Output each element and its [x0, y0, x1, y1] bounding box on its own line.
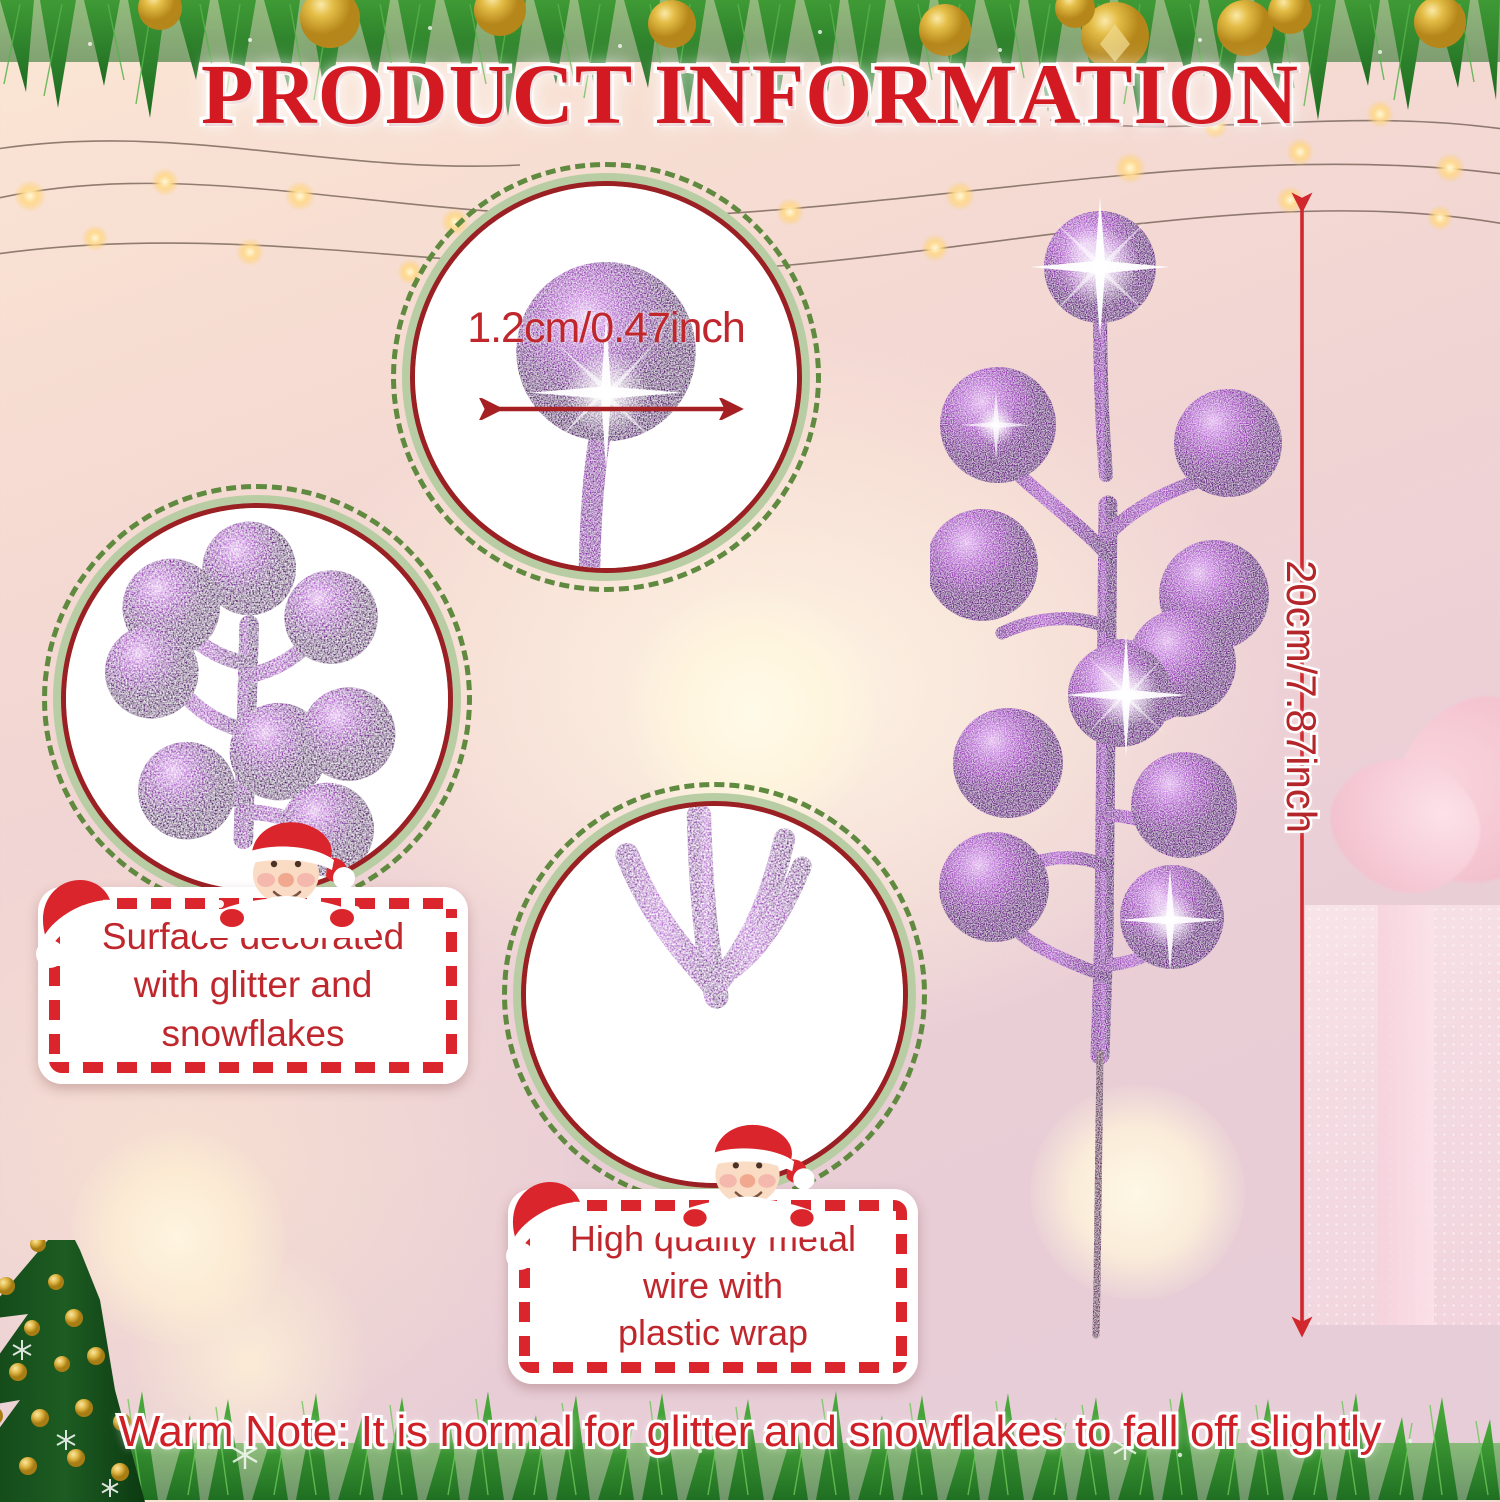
- santa-figure-surface: [196, 818, 376, 938]
- single-berry-closeup: [415, 186, 797, 568]
- label-wire-line3: plastic wrap: [570, 1310, 856, 1357]
- height-measurement-label: 20cm/7.87inch: [1277, 560, 1325, 833]
- gift-box-ribbon: [1378, 905, 1434, 1325]
- label-surface-line2: with glitter and: [102, 961, 404, 1009]
- santa-hat-icon-wire: [498, 1178, 584, 1274]
- santa-figure-wire: [660, 1120, 835, 1238]
- circle-red-ring: 1.2cm/0.47inch: [410, 181, 802, 573]
- berry-diameter-text: 1.2cm/0.47inch: [415, 304, 797, 353]
- circle-content-size: 1.2cm/0.47inch: [415, 186, 797, 568]
- page-title: PRODUCT INFORMATION: [0, 44, 1500, 144]
- berry-diameter-callout: 1.2cm/0.47inch: [391, 162, 821, 592]
- santa-hat-icon-surface: [28, 876, 114, 972]
- label-surface-line3: snowflakes: [102, 1010, 404, 1058]
- warm-note: Warm Note: It is normal for glitter and …: [0, 1407, 1500, 1457]
- label-wire-line2: wire with: [570, 1263, 856, 1310]
- diameter-double-arrow: [477, 398, 745, 420]
- christmas-tree: [0, 1240, 180, 1502]
- purple-glitter-berry-stem: [930, 175, 1290, 1345]
